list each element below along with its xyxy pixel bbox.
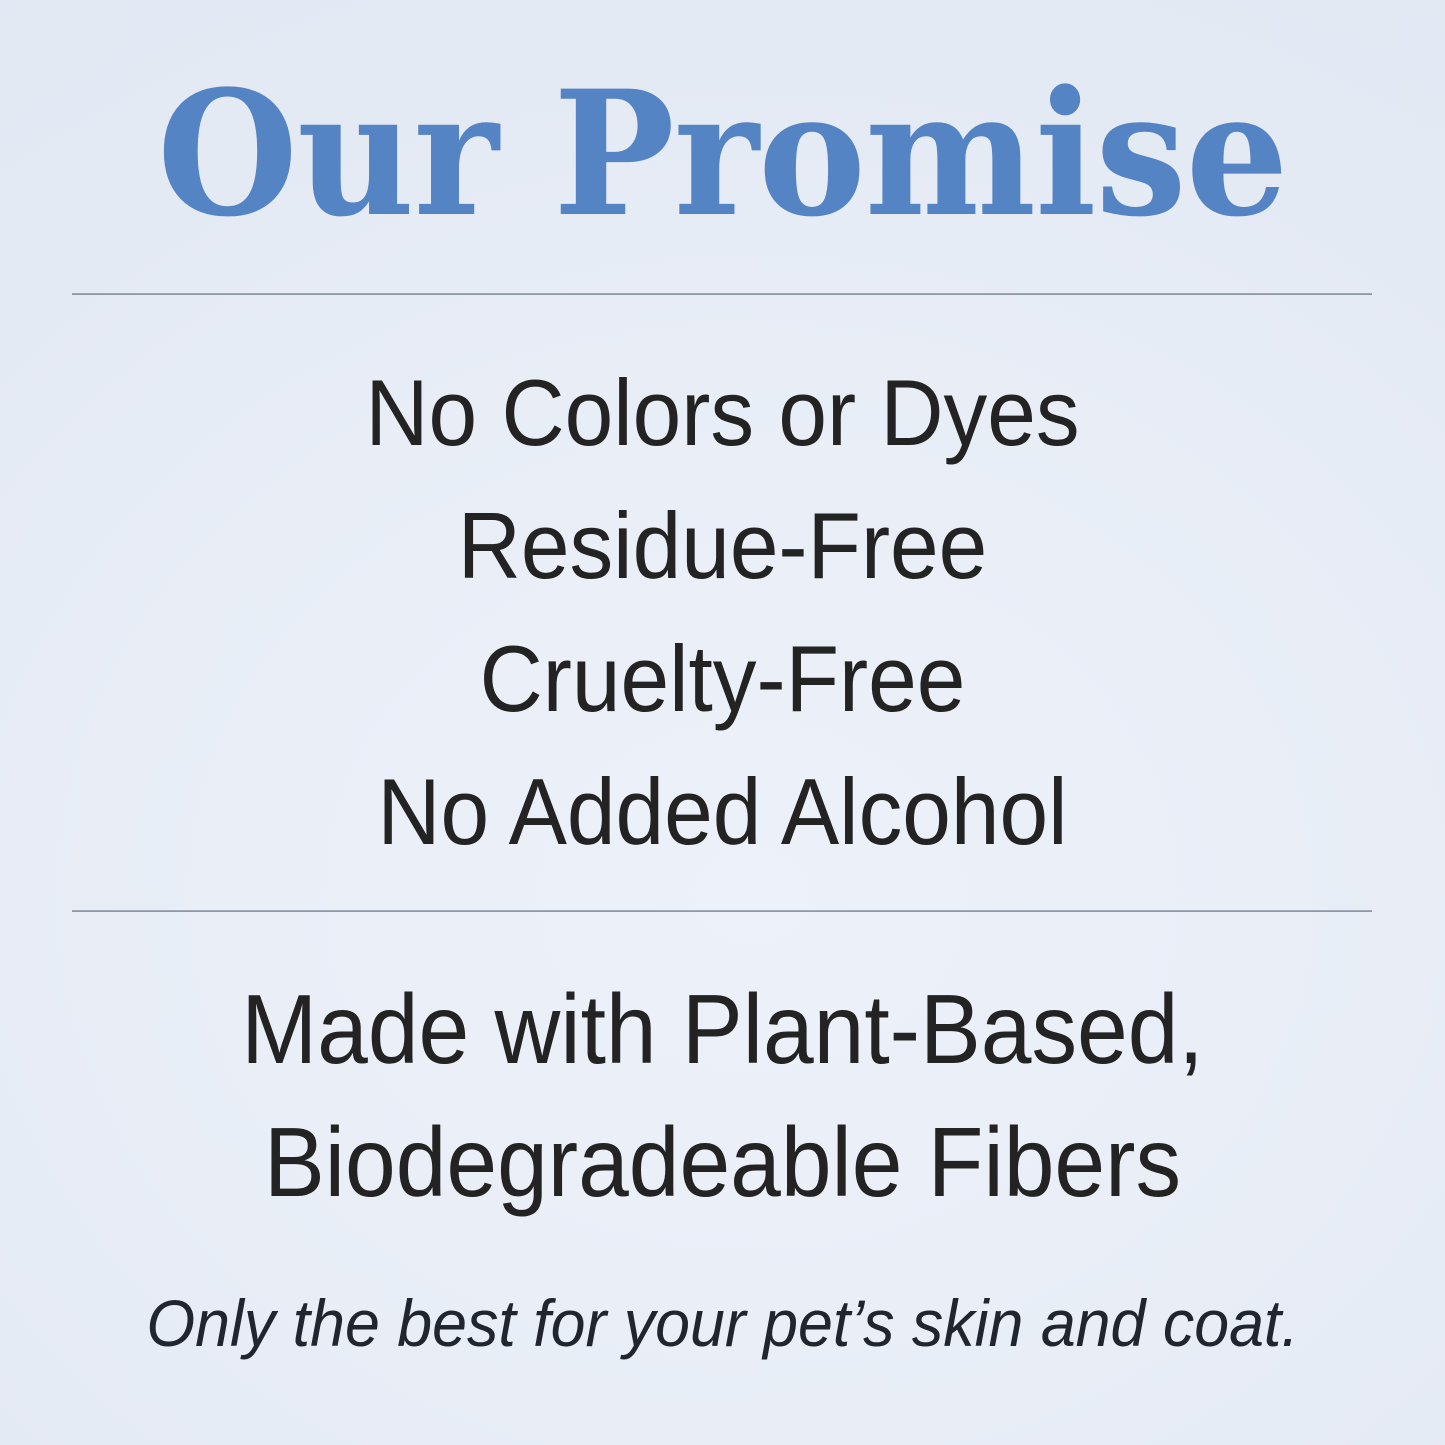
materials-statement: Made with Plant-Based, Biodegradeable Fi… <box>0 963 1445 1229</box>
claim-item-cruelty-free: Cruelty-Free <box>51 612 1395 745</box>
claims-list: No Colors or Dyes Residue-Free Cruelty-F… <box>0 346 1445 878</box>
page-title-container: Our Promise <box>0 68 1445 240</box>
claim-item-residue-free: Residue-Free <box>51 479 1395 612</box>
claim-item-no-added-alcohol: No Added Alcohol <box>51 745 1395 878</box>
materials-statement-line-1: Made with Plant-Based, <box>51 963 1395 1096</box>
page-title: Our Promise <box>157 68 1288 240</box>
divider-top <box>72 293 1372 295</box>
materials-statement-line-2: Biodegradeable Fibers <box>51 1096 1395 1229</box>
footer-tagline: Only the best for your pet’s skin and co… <box>146 1290 1298 1356</box>
claim-item-no-colors-or-dyes: No Colors or Dyes <box>51 346 1395 479</box>
footer-tagline-container: Only the best for your pet’s skin and co… <box>0 1290 1445 1356</box>
our-promise-card: Our Promise No Colors or Dyes Residue-Fr… <box>0 0 1445 1445</box>
divider-bottom <box>72 910 1372 912</box>
